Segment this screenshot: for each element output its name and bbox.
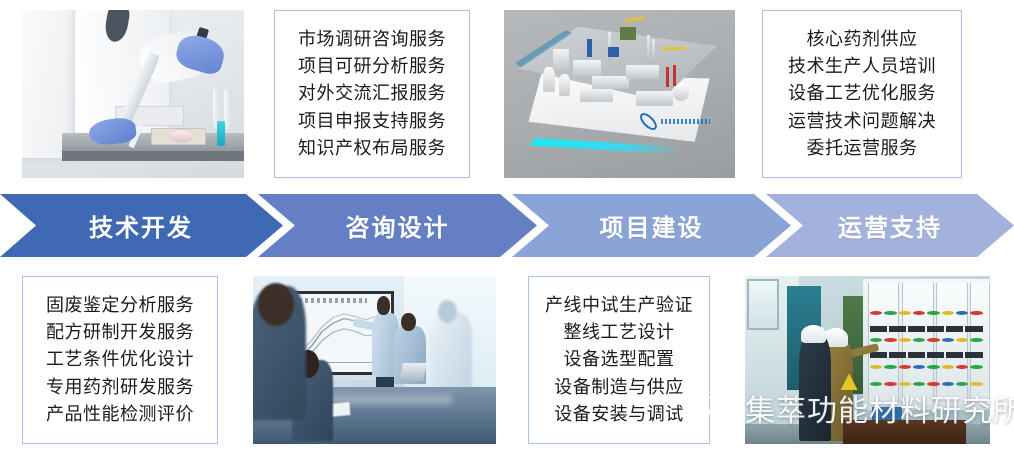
control-meter [870, 326, 887, 332]
card-line: 产线中试生产验证 [545, 292, 693, 319]
card-project-construction: 产线中试生产验证 整线工艺设计 设备选型配置 设备制造与供应 设备安装与调试 [528, 276, 710, 444]
control-led [884, 311, 896, 315]
control-led [956, 338, 968, 342]
control-led [870, 365, 882, 369]
control-led [970, 338, 982, 342]
card-line: 配方研制开发服务 [46, 319, 194, 346]
control-wooden-table [843, 420, 966, 444]
control-led-row [870, 311, 983, 315]
control-led [956, 311, 968, 315]
card-line: 固废鉴定分析服务 [46, 292, 194, 319]
lab-bench-edge [62, 151, 244, 161]
photo-control-room [745, 276, 990, 444]
model-green-tank [620, 27, 636, 40]
control-led [942, 311, 954, 315]
control-led-row [870, 382, 983, 386]
model-logo-text [661, 119, 710, 124]
meeting-attendee-far-head [438, 300, 457, 324]
control-meter [889, 352, 906, 358]
lab-test-tube [224, 89, 232, 129]
process-band: 技术开发 咨询设计 项目建设 运营支持 [0, 194, 1014, 257]
control-led [927, 338, 939, 342]
model-red-tower [666, 67, 670, 87]
lab-reagent-bottle [217, 121, 225, 146]
control-led [899, 311, 911, 315]
control-led [884, 365, 896, 369]
model-red-tower [673, 65, 677, 85]
control-led [956, 382, 968, 386]
model-unit [580, 89, 612, 102]
model-unit [592, 76, 629, 89]
control-led [870, 338, 882, 342]
control-led [899, 365, 911, 369]
card-line: 委托运营服务 [807, 135, 918, 162]
control-led [942, 338, 954, 342]
stage-3[interactable]: 项目建设 [549, 194, 754, 257]
card-line: 技术生产人员培训 [788, 53, 936, 80]
stage-label: 技术开发 [89, 208, 193, 243]
model-blue-crane [587, 39, 592, 57]
stage-label: 项目建设 [600, 208, 704, 243]
card-tech-development: 固废鉴定分析服务 配方研制开发服务 工艺条件优化设计 专用药剂研发服务 产品性能… [22, 276, 218, 444]
control-meter [927, 352, 944, 358]
control-meter [908, 326, 925, 332]
stage-label: 咨询设计 [346, 208, 450, 243]
model-unit [553, 49, 569, 71]
control-led [942, 382, 954, 386]
control-led [913, 382, 925, 386]
control-led [970, 311, 982, 315]
photo-meeting [253, 276, 496, 444]
presenter-head [377, 296, 390, 314]
model-sphere [673, 84, 689, 101]
card-line: 设备选型配置 [564, 346, 675, 373]
control-led-row [870, 365, 983, 369]
lab-petri-dish [169, 129, 193, 143]
card-line: 运营技术问题解决 [788, 108, 936, 135]
worker-back-helmet [801, 325, 826, 343]
control-meter [965, 352, 982, 358]
card-line: 专用药剂研发服务 [46, 374, 194, 401]
control-led [899, 382, 911, 386]
control-led [913, 338, 925, 342]
card-consulting-design: 市场调研咨询服务 项目可研分析服务 对外交流汇报服务 项目申报支持服务 知识产权… [274, 10, 470, 178]
control-meter [927, 326, 944, 332]
meeting-laptop [399, 363, 427, 381]
card-operation-support: 核心药剂供应 技术生产人员培训 设备工艺优化服务 运营技术问题解决 委托运营服务 [762, 10, 962, 178]
control-led [913, 311, 925, 315]
control-meter [908, 352, 925, 358]
model-unit [573, 60, 601, 75]
card-line: 市场调研咨询服务 [298, 26, 446, 53]
card-line: 项目申报支持服务 [298, 108, 446, 135]
model-stack [647, 35, 650, 64]
card-line: 设备制造与供应 [554, 374, 684, 401]
card-line: 核心药剂供应 [807, 26, 918, 53]
stage-label: 运营支持 [838, 208, 942, 243]
model-crane [624, 17, 645, 23]
control-meter [965, 326, 982, 332]
model-logo-icon [638, 116, 659, 127]
card-line: 设备工艺优化服务 [788, 80, 936, 107]
card-line: 知识产权布局服务 [298, 135, 446, 162]
process-infographic: 市场调研咨询服务 项目可研分析服务 对外交流汇报服务 项目申报支持服务 知识产权… [0, 0, 1014, 450]
model-tank [559, 74, 569, 96]
control-led [927, 382, 939, 386]
card-line: 产品性能检测评价 [46, 401, 194, 428]
control-led [942, 365, 954, 369]
control-meter-row [870, 352, 983, 358]
stage-4[interactable]: 运营支持 [803, 194, 977, 257]
control-window [747, 279, 779, 329]
control-led [899, 338, 911, 342]
model-blue-unit [608, 47, 620, 57]
control-led [913, 365, 925, 369]
model-unit [626, 65, 658, 78]
card-line: 整线工艺设计 [564, 319, 675, 346]
control-led [884, 338, 896, 342]
control-meter [889, 326, 906, 332]
meeting-attendee-seated-head [401, 313, 416, 331]
control-led [970, 365, 982, 369]
model-stack [652, 39, 655, 64]
control-led [870, 382, 882, 386]
card-line: 项目可研分析服务 [298, 53, 446, 80]
screen-chart-title [299, 298, 367, 303]
model-tank [543, 67, 555, 92]
model-yellow-frame [661, 47, 686, 50]
control-meter [946, 352, 963, 358]
control-led [927, 311, 939, 315]
card-line: 对外交流汇报服务 [298, 80, 446, 107]
control-led [884, 382, 896, 386]
worker-back [799, 336, 831, 440]
photo-plant-model [504, 10, 735, 178]
control-led [870, 311, 882, 315]
control-led [970, 382, 982, 386]
card-line: 工艺条件优化设计 [46, 346, 194, 373]
model-unit [636, 91, 673, 106]
control-led-row [870, 338, 983, 342]
control-led [927, 365, 939, 369]
card-line: 设备安装与调试 [554, 401, 684, 428]
control-meter [946, 326, 963, 332]
stage-2[interactable]: 咨询设计 [295, 194, 500, 257]
control-led [956, 365, 968, 369]
meeting-attendee-far [430, 313, 471, 394]
control-meter-row [870, 326, 983, 332]
stage-1[interactable]: 技术开发 [36, 194, 246, 257]
photo-lab [22, 10, 244, 178]
